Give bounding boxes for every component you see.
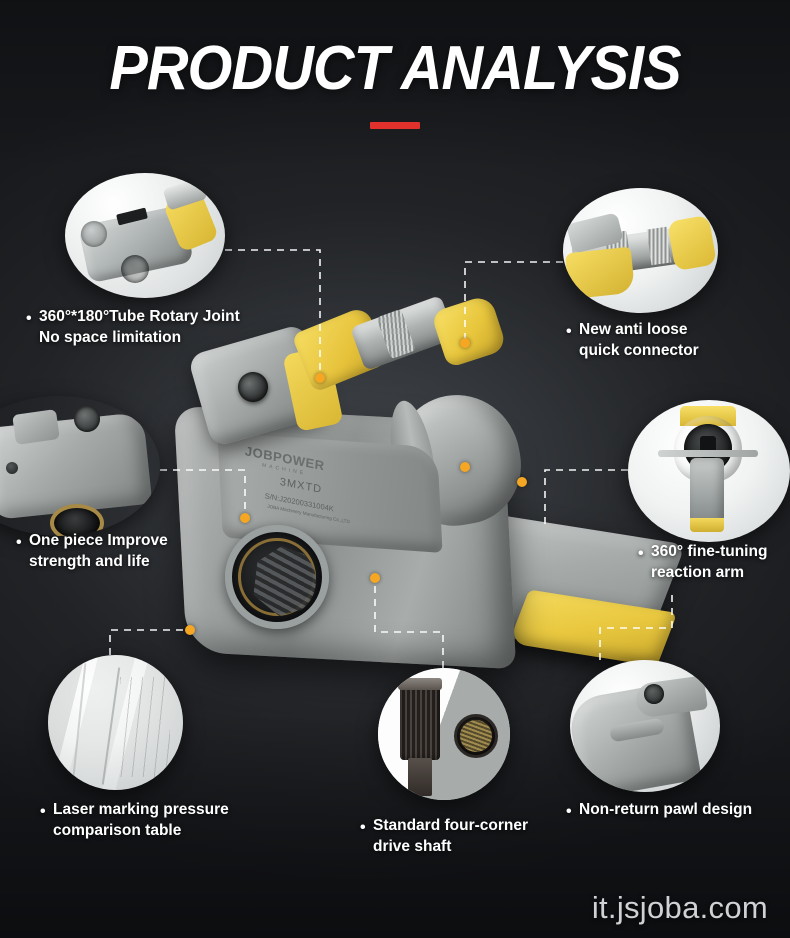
callout-bullet: • — [566, 801, 572, 822]
thumb-rotary-joint[interactable] — [65, 173, 225, 298]
marker-dot-drive-shaft — [370, 573, 380, 583]
callout-quick-connector: • New anti loose quick connector — [566, 320, 699, 361]
callout-rotary-joint: • 360°*180°Tube Rotary Joint No space li… — [26, 307, 240, 348]
callout-non-return-pawl: • Non-return pawl design — [566, 800, 752, 821]
callout-text: Standard four-corner drive shaft — [360, 816, 528, 857]
marker-dot-laser-marking — [185, 625, 195, 635]
thumb-one-piece[interactable] — [0, 396, 160, 536]
callout-text: New anti loose quick connector — [566, 320, 699, 361]
infographic-canvas: PRODUCT ANALYSIS — [0, 0, 790, 938]
callout-laser-marking: • Laser marking pressure comparison tabl… — [40, 800, 229, 841]
callout-bullet: • — [360, 817, 366, 838]
page-title: PRODUCT ANALYSIS — [28, 38, 763, 100]
marker-dot-non-return-pawl — [517, 477, 527, 487]
callout-drive-shaft: • Standard four-corner drive shaft — [360, 816, 528, 857]
callout-text: Non-return pawl design — [566, 800, 752, 821]
callout-bullet: • — [26, 308, 32, 329]
marker-dot-reaction-arm — [460, 462, 470, 472]
marker-dot-rotary-joint — [315, 373, 325, 383]
thumb-quick-connector-image — [563, 188, 718, 313]
callout-bullet: • — [638, 543, 644, 564]
product-ratchet-ring — [225, 525, 329, 629]
callout-text: One piece Improve strength and life — [16, 531, 168, 572]
thumb-quick-connector[interactable] — [563, 188, 718, 313]
callout-bullet: • — [16, 532, 22, 553]
callout-bullet: • — [40, 801, 46, 822]
product-ratchet-teeth — [248, 546, 316, 616]
footer-watermark: it.jsjoba.com — [592, 890, 768, 926]
product-brand: JOBPOWER MACHINE — [244, 443, 325, 480]
thumb-rotary-joint-image — [65, 173, 225, 298]
callout-text: 360° fine-tuning reaction arm — [638, 542, 767, 583]
callout-text: 360°*180°Tube Rotary Joint No space limi… — [26, 307, 240, 348]
header: PRODUCT ANALYSIS — [0, 38, 790, 129]
marker-dot-one-piece — [240, 513, 250, 523]
thumb-drive-shaft[interactable] — [378, 668, 510, 800]
callout-reaction-arm: • 360° fine-tuning reaction arm — [638, 542, 767, 583]
title-accent-bar — [370, 122, 420, 129]
callout-text: Laser marking pressure comparison table — [40, 800, 229, 841]
thumb-drive-shaft-image — [378, 668, 510, 800]
marker-dot-quick-connector — [460, 338, 470, 348]
thumb-reaction-arm-image — [628, 400, 790, 542]
thumb-non-return-pawl-image — [570, 660, 720, 792]
callout-bullet: • — [566, 321, 572, 342]
thumb-laser-marking-image — [48, 655, 183, 790]
thumb-one-piece-image — [0, 396, 160, 536]
callout-one-piece: • One piece Improve strength and life — [16, 531, 168, 572]
thumb-non-return-pawl[interactable] — [570, 660, 720, 792]
thumb-reaction-arm[interactable] — [628, 400, 790, 542]
thumb-laser-marking[interactable] — [48, 655, 183, 790]
